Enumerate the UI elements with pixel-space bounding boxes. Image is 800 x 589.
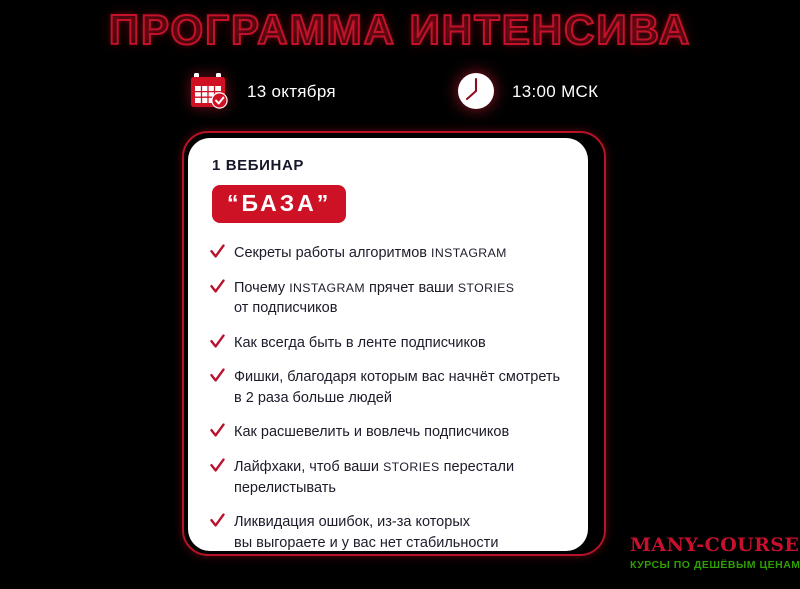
meta-row: 13 октября 13:00 МСК bbox=[190, 66, 610, 128]
bullet-text: Как расшевелить и вовлечь подписчиков bbox=[234, 424, 509, 440]
check-icon bbox=[210, 423, 225, 438]
bullet-item: Фишки, благодаря которым вас начнёт смот… bbox=[210, 367, 566, 408]
bullet-text: Почему INSTAGRAM прячет ваши STORIESот п… bbox=[234, 280, 514, 317]
bullet-list: Секреты работы алгоритмов INSTAGRAMПочем… bbox=[210, 243, 566, 553]
watermark-name: MANY-COURSES.RU bbox=[630, 534, 798, 556]
date-label: 13 октября bbox=[247, 82, 336, 102]
check-icon bbox=[210, 368, 225, 383]
check-icon bbox=[210, 513, 225, 528]
time-label: 13:00 МСК bbox=[512, 82, 598, 102]
page-title: ПРОГРАММА ИНТЕНСИВА bbox=[0, 6, 800, 54]
check-icon bbox=[210, 244, 225, 259]
check-icon bbox=[210, 279, 225, 294]
bullet-item: Секреты работы алгоритмов INSTAGRAM bbox=[210, 243, 566, 264]
poster-root: ПРОГРАММА ИНТЕНСИВА bbox=[0, 0, 800, 589]
bullet-text: Лайфхаки, чтоб ваши STORIES пересталипер… bbox=[234, 459, 514, 496]
bullet-item: Как расшевелить и вовлечь подписчиков bbox=[210, 422, 566, 443]
bullet-item: Ликвидация ошибок, из-за которыхвы выгор… bbox=[210, 512, 566, 553]
bullet-text: Как всегда быть в ленте подписчиков bbox=[234, 335, 486, 351]
bullet-item: Почему INSTAGRAM прячет ваши STORIESот п… bbox=[210, 278, 566, 319]
webinar-title-badge: “БАЗА” bbox=[212, 185, 346, 223]
calendar-icon bbox=[190, 70, 234, 114]
bullet-text: Фишки, благодаря которым вас начнёт смот… bbox=[234, 369, 560, 406]
watermark-name-red: MANY-COURSES bbox=[630, 534, 800, 556]
bullet-text: Секреты работы алгоритмов INSTAGRAM bbox=[234, 245, 507, 261]
webinar-number: 1 ВЕБИНАР bbox=[212, 157, 566, 174]
bullet-item: Лайфхаки, чтоб ваши STORIES пересталипер… bbox=[210, 457, 566, 498]
bullet-item: Как всегда быть в ленте подписчиков bbox=[210, 333, 566, 354]
meta-item-date: 13 октября bbox=[190, 70, 336, 114]
watermark: MANY-COURSES.RU КУРСЫ ПО ДЕШЁВЫМ ЦЕНАМ bbox=[630, 534, 798, 571]
check-icon bbox=[210, 334, 225, 349]
watermark-subtitle: КУРСЫ ПО ДЕШЁВЫМ ЦЕНАМ bbox=[630, 559, 798, 571]
clock-icon bbox=[455, 70, 499, 114]
meta-item-time: 13:00 МСК bbox=[455, 70, 598, 114]
bullet-text: Ликвидация ошибок, из-за которыхвы выгор… bbox=[234, 514, 498, 551]
webinar-card: 1 ВЕБИНАР “БАЗА” Секреты работы алгоритм… bbox=[188, 138, 588, 551]
check-icon bbox=[210, 458, 225, 473]
